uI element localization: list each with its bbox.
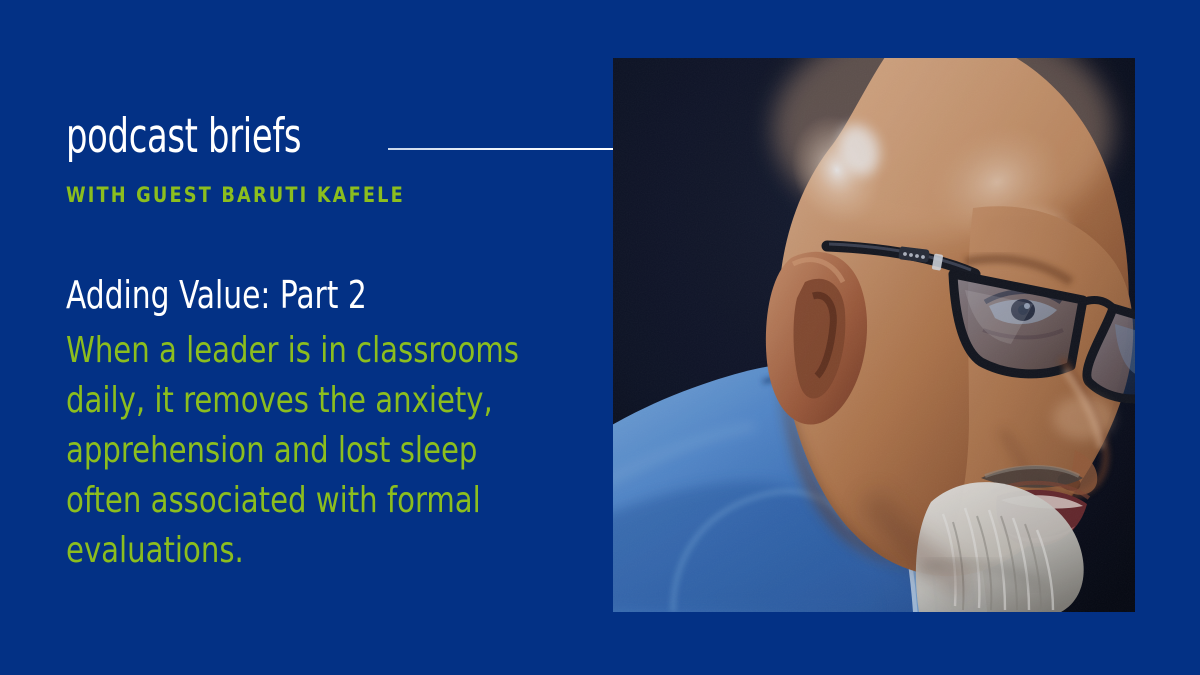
podcast-brief-slide: podcast briefs WITH GUEST BARUTI KAFELE … — [0, 0, 1200, 675]
episode-title: Adding Value: Part 2 — [66, 272, 367, 318]
brand-row: podcast briefs — [66, 108, 626, 168]
title-divider-rule — [388, 148, 615, 150]
guest-portrait-photo — [613, 58, 1135, 612]
text-column: podcast briefs WITH GUEST BARUTI KAFELE … — [66, 0, 606, 675]
guest-subtitle: WITH GUEST BARUTI KAFELE — [66, 182, 405, 208]
episode-quote: When a leader is in classrooms daily, it… — [66, 326, 543, 576]
page-title: podcast briefs — [66, 108, 301, 166]
portrait-illustration — [613, 58, 1135, 612]
